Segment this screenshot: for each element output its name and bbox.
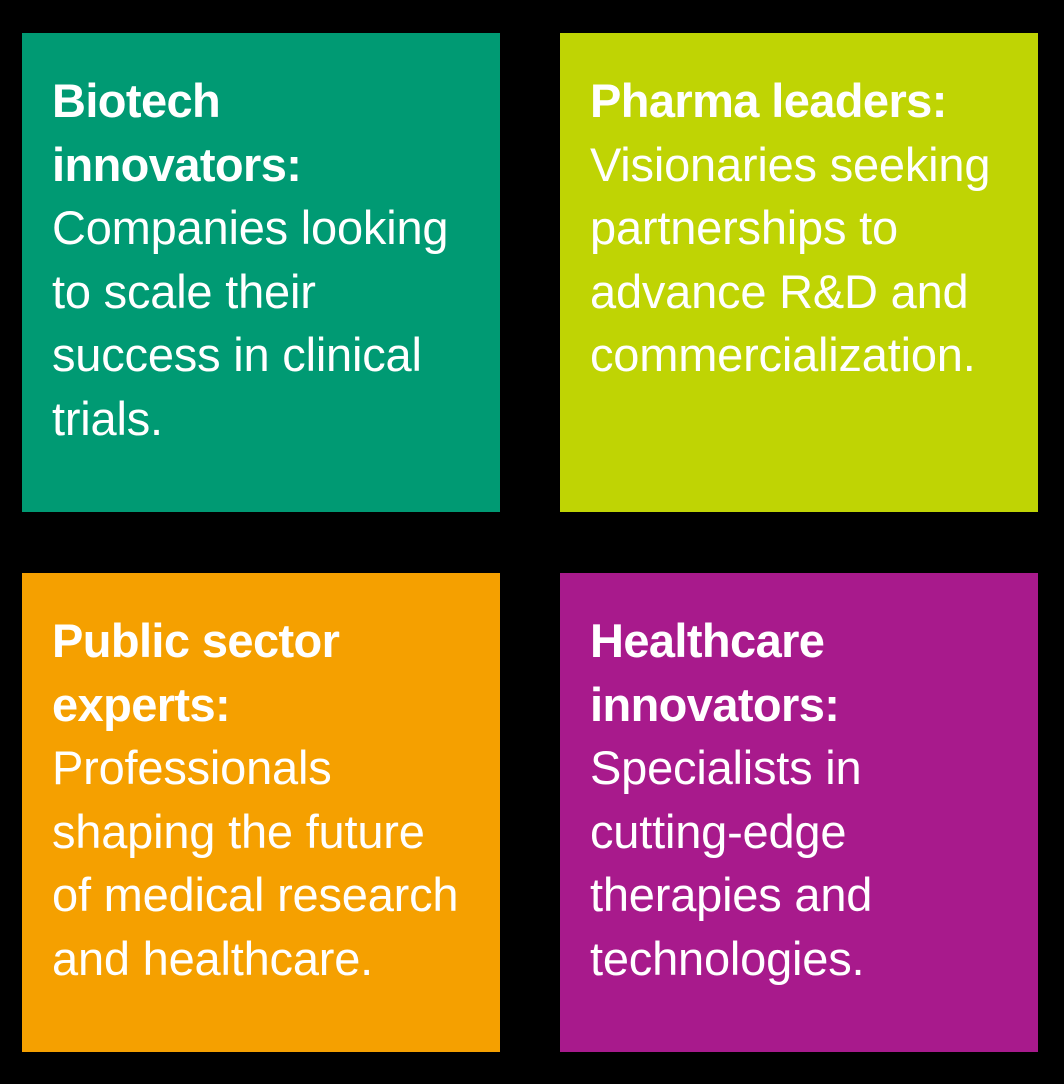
card-description: Visionaries seeking partnerships to adva…	[590, 138, 990, 382]
card-public-sector-experts[interactable]: Public sector experts: Professionals sha…	[22, 573, 500, 1052]
card-text: Pharma leaders: Visionaries seeking part…	[590, 69, 1008, 387]
card-text: Public sector experts: Professionals sha…	[52, 609, 470, 990]
card-title: Healthcare innovators:	[590, 614, 839, 731]
card-healthcare-innovators[interactable]: Healthcare innovators: Specialists in cu…	[560, 573, 1038, 1052]
card-text: Biotech innovators: Companies looking to…	[52, 69, 470, 450]
card-text: Healthcare innovators: Specialists in cu…	[590, 609, 1008, 990]
card-biotech-innovators[interactable]: Biotech innovators: Companies looking to…	[22, 33, 500, 512]
card-description: Professionals shaping the future of medi…	[52, 741, 458, 985]
card-title: Pharma leaders:	[590, 74, 947, 127]
card-pharma-leaders[interactable]: Pharma leaders: Visionaries seeking part…	[560, 33, 1038, 512]
card-description: Specialists in cutting-edge therapies an…	[590, 741, 872, 985]
card-description: Companies looking to scale their success…	[52, 201, 448, 445]
audience-cards-grid: Biotech innovators: Companies looking to…	[0, 0, 1064, 1084]
card-title: Public sector experts:	[52, 614, 339, 731]
card-title: Biotech innovators:	[52, 74, 301, 191]
